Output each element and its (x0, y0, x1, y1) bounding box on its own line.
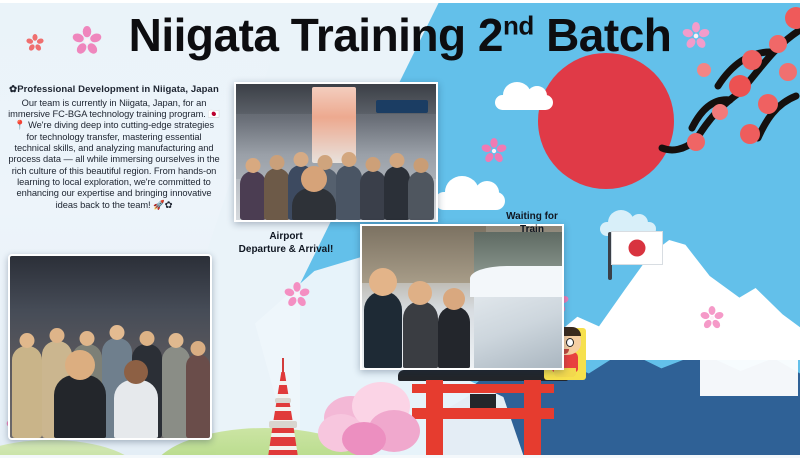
description-heading: ✿Professional Development in Niigata, Ja… (8, 84, 220, 96)
red-sun-icon (538, 53, 674, 189)
caption-train-line2: Train (478, 224, 586, 237)
title-main: Niigata Training 2 (129, 9, 503, 61)
page-edge-top (0, 0, 800, 3)
team-group-photo (8, 254, 212, 440)
description-body: Our team is currently in Niigata, Japan,… (8, 98, 220, 211)
caption-train-line1: Waiting for (478, 211, 586, 224)
japanese-flag-icon (611, 231, 663, 265)
tokyo-tower-icon (262, 358, 304, 458)
sakura-sticker-icon (284, 282, 310, 308)
sakura-sticker-icon (700, 306, 724, 330)
caption-airport: Airport Departure & Arrival! (216, 231, 356, 256)
title-ordinal: nd (503, 11, 534, 41)
sakura-sticker-icon (481, 138, 507, 164)
page-title: Niigata Training 2nd Batch (0, 8, 800, 62)
airport-group-photo (234, 82, 438, 222)
cloud-icon (435, 192, 505, 210)
caption-train: Waiting for Train (478, 211, 586, 236)
title-tail: Batch (534, 9, 672, 61)
snow-patch (700, 336, 798, 396)
cloud-icon (495, 95, 553, 110)
poster-canvas: Niigata Training 2nd Batch ✿Professional… (0, 0, 800, 458)
caption-airport-line1: Airport (216, 231, 356, 244)
description-text-block: ✿Professional Development in Niigata, Ja… (8, 84, 220, 211)
caption-airport-line2: Departure & Arrival! (216, 244, 356, 257)
train-platform-photo (360, 224, 564, 370)
sakura-tree-icon (318, 378, 428, 458)
